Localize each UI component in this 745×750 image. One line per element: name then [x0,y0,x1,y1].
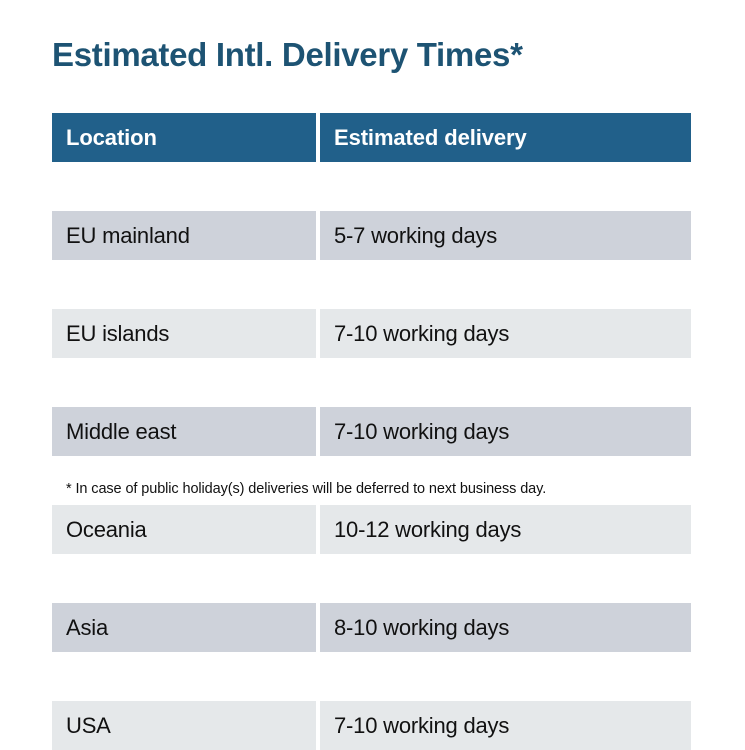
cell-location: EU mainland [52,211,316,260]
table-row: EU islands 7-10 working days [52,309,691,358]
table-row: USA 7-10 working days [52,701,691,750]
cell-delivery: 7-10 working days [320,309,691,358]
table-row: Asia 8-10 working days [52,603,691,652]
row-spacer [52,652,691,701]
page-title: Estimated Intl. Delivery Times* [52,36,523,74]
cell-delivery: 10-12 working days [320,505,691,554]
cell-location: USA [52,701,316,750]
delivery-times-table: Location Estimated delivery EU mainland … [52,113,691,750]
column-header-location: Location [52,113,316,162]
table-header: Location Estimated delivery [52,113,691,162]
table-row: Middle east 7-10 working days [52,407,691,456]
cell-location: EU islands [52,309,316,358]
column-header-estimated-delivery: Estimated delivery [320,113,691,162]
cell-location: Asia [52,603,316,652]
row-spacer [52,358,691,407]
delivery-times-page: Estimated Intl. Delivery Times* Location… [0,0,745,536]
cell-location: Middle east [52,407,316,456]
cell-delivery: 7-10 working days [320,701,691,750]
cell-delivery: 8-10 working days [320,603,691,652]
table-row: EU mainland 5-7 working days [52,211,691,260]
table-header-row: Location Estimated delivery [52,113,691,162]
table-body: EU mainland 5-7 working days EU islands … [52,162,691,750]
cell-location: Oceania [52,505,316,554]
row-spacer [52,162,691,211]
row-spacer [52,260,691,309]
cell-delivery: 7-10 working days [320,407,691,456]
table-row: Oceania 10-12 working days [52,505,691,554]
footnote-text: * In case of public holiday(s) deliverie… [66,481,546,497]
cell-delivery: 5-7 working days [320,211,691,260]
row-spacer [52,554,691,603]
